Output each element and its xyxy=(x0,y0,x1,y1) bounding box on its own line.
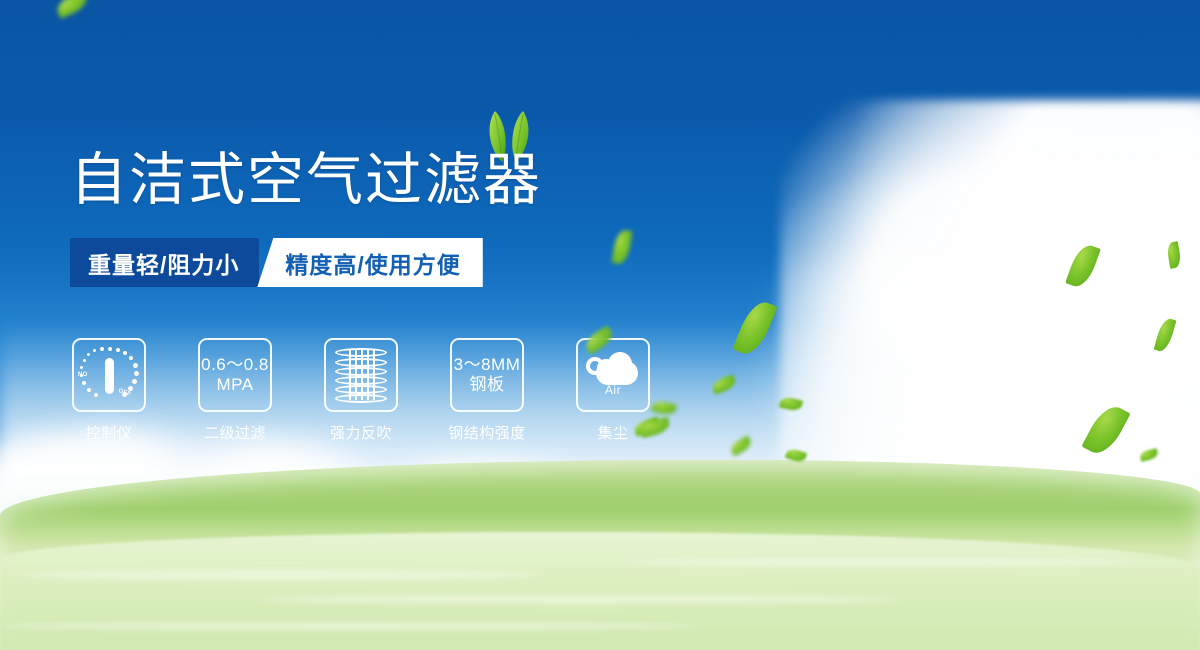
pressure-text-icon: 0.6～0.8 MPA xyxy=(201,355,269,395)
cloud-body xyxy=(596,361,638,385)
steel-line-1: 3～8MM xyxy=(454,355,521,375)
page-title: 自洁式空气过滤器 xyxy=(70,146,542,214)
feature-label: 钢结构强度 xyxy=(448,422,526,443)
air-label: Air xyxy=(582,383,644,397)
feature-item-dust[interactable]: Air 集尘 xyxy=(576,338,650,443)
dial-gauge-icon: NO OFF xyxy=(78,346,140,404)
feature-item-backblow[interactable]: 强力反吹 xyxy=(324,338,398,443)
product-banner: 自洁式空气过滤器 重量轻/阻力小 精度高/使用方便 xyxy=(0,0,1200,650)
feature-label: 二级过滤 xyxy=(204,422,266,443)
grass-foreground xyxy=(0,532,1200,650)
pressure-line-1: 0.6～0.8 xyxy=(201,355,269,375)
dial-needle xyxy=(105,358,114,394)
floating-leaf xyxy=(54,0,90,19)
pressure-line-2: MPA xyxy=(201,375,269,395)
grass-streak xyxy=(620,558,1140,566)
dial-on-label: NO xyxy=(78,372,88,378)
air-cloud-icon: Air xyxy=(582,347,644,403)
feature-icon-box: NO OFF xyxy=(72,338,146,412)
feature-label: 集尘 xyxy=(597,422,628,443)
subtitle-left: 重量轻/阻力小 xyxy=(70,238,259,287)
feature-icon-box xyxy=(324,338,398,412)
subtitle-bar: 重量轻/阻力小 精度高/使用方便 xyxy=(70,238,483,287)
subtitle-right-label: 精度高/使用方便 xyxy=(285,246,460,280)
feature-icon-box: 3～8MM 钢板 xyxy=(450,338,524,412)
feature-item-pressure[interactable]: 0.6～0.8 MPA 二级过滤 xyxy=(198,338,272,443)
feature-label: 强力反吹 xyxy=(330,422,392,443)
steel-line-2: 钢板 xyxy=(454,375,521,395)
floating-leaf xyxy=(612,229,633,265)
grass-streak xyxy=(20,570,540,580)
feature-list: NO OFF 控制仪 0.6～0.8 MPA 二级过滤 xyxy=(72,338,650,443)
grass-streak xyxy=(260,595,900,604)
grass-streak xyxy=(0,622,700,630)
feature-icon-box: 0.6～0.8 MPA xyxy=(198,338,272,412)
subtitle-right: 精度高/使用方便 xyxy=(257,238,482,287)
feature-label: 控制仪 xyxy=(86,422,133,443)
steel-plate-text-icon: 3～8MM 钢板 xyxy=(454,355,521,395)
feature-item-controller[interactable]: NO OFF 控制仪 xyxy=(72,338,146,443)
feature-item-steel[interactable]: 3～8MM 钢板 钢结构强度 xyxy=(450,338,524,443)
filter-cartridge-icon xyxy=(335,346,387,404)
